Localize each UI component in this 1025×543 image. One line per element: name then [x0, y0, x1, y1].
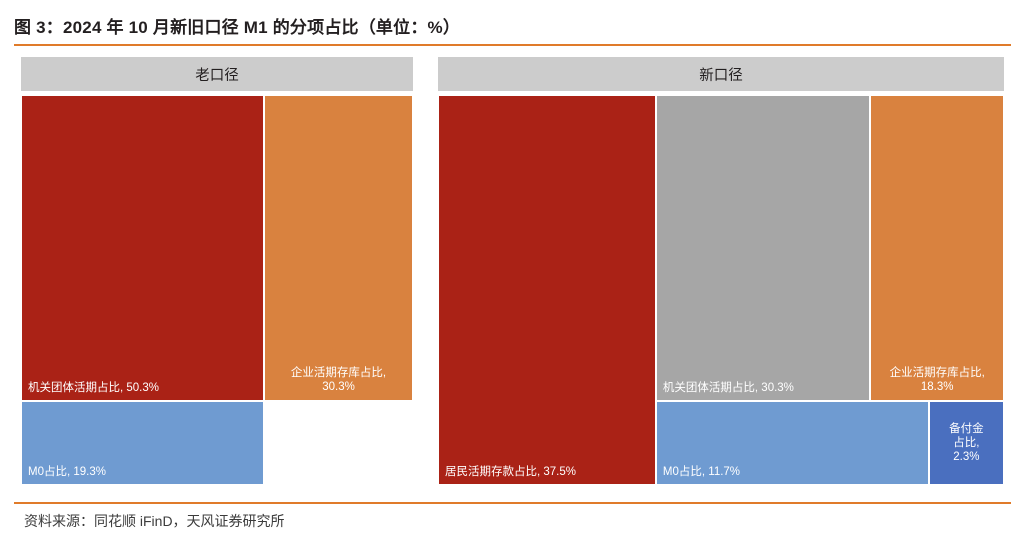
page-title: 图 3：2024 年 10 月新旧口径 M1 的分项占比（单位：%） — [14, 13, 460, 38]
title-divider — [14, 44, 1011, 46]
tile-label: 企业活期存库占比, 18.3% — [871, 366, 1003, 394]
figure-title-row: 图 3：2024 年 10 月新旧口径 M1 的分项占比（单位：%） — [14, 8, 1011, 42]
panel-new-header: 新口径 — [438, 57, 1004, 91]
source-note: 资料来源：同花顺 iFinD，天风证券研究所 — [24, 511, 285, 531]
tile-label: 居民活期存款占比, 37.5% — [445, 465, 576, 479]
tile-old-corporate-demand[interactable]: 企业活期存库占比, 30.3% — [264, 95, 413, 401]
tile-label: 备付金 占比, 2.3% — [930, 422, 1003, 464]
tile-label: 机关团体活期占比, 50.3% — [28, 381, 159, 395]
treemap-chart: 老口径 机关团体活期占比, 50.3% 企业活期存库占比, 30.3% M0占比… — [14, 54, 1011, 494]
panel-old-caliber: 老口径 机关团体活期占比, 50.3% 企业活期存库占比, 30.3% M0占比… — [21, 54, 413, 494]
panel-new-body: 居民活期存款占比, 37.5% 机关团体活期占比, 30.3% 企业活期存库占比… — [438, 95, 1004, 485]
tile-new-household-demand[interactable]: 居民活期存款占比, 37.5% — [438, 95, 656, 485]
footer-divider — [14, 502, 1011, 504]
figure-page: 图 3：2024 年 10 月新旧口径 M1 的分项占比（单位：%） 老口径 机… — [0, 0, 1025, 543]
tile-old-m0[interactable]: M0占比, 19.3% — [21, 401, 264, 485]
tile-new-m0[interactable]: M0占比, 11.7% — [656, 401, 929, 485]
tile-label: 机关团体活期占比, 30.3% — [663, 381, 794, 395]
tile-new-reserve-fund[interactable]: 备付金 占比, 2.3% — [929, 401, 1004, 485]
panel-old-body: 机关团体活期占比, 50.3% 企业活期存库占比, 30.3% M0占比, 19… — [21, 95, 413, 485]
tile-label: 企业活期存库占比, 30.3% — [265, 366, 412, 394]
panel-new-caliber: 新口径 居民活期存款占比, 37.5% 机关团体活期占比, 30.3% 企业活期… — [438, 54, 1004, 494]
tile-label: M0占比, 11.7% — [663, 465, 740, 479]
tile-label: M0占比, 19.3% — [28, 465, 106, 479]
tile-new-corporate-demand[interactable]: 企业活期存库占比, 18.3% — [870, 95, 1004, 401]
tile-old-government-demand[interactable]: 机关团体活期占比, 50.3% — [21, 95, 264, 401]
tile-new-government-demand[interactable]: 机关团体活期占比, 30.3% — [656, 95, 871, 401]
panel-old-header: 老口径 — [21, 57, 413, 91]
